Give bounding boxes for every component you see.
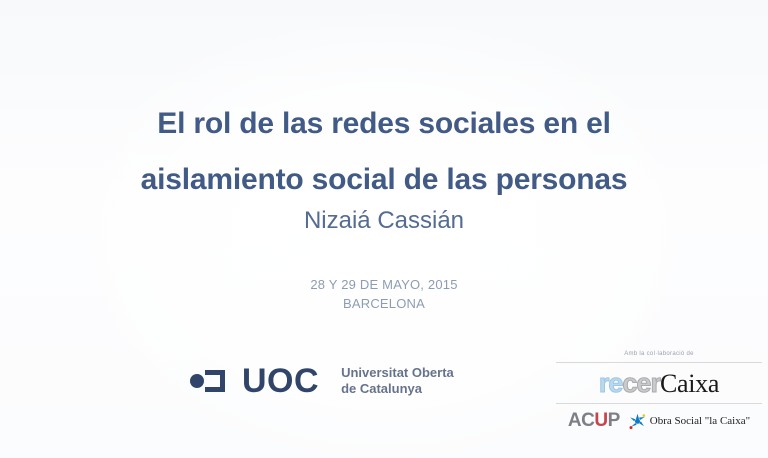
uoc-square-dot-icon: [188, 366, 228, 396]
recercaixa-cer: cer: [622, 368, 660, 398]
obra-social-logo: Obra Social "la Caixa": [629, 413, 750, 430]
acup-post: P: [608, 410, 620, 431]
sponsor-bottom-row: ACUP Obra Social: [556, 404, 762, 431]
recercaixa-logo: recerCaixa: [556, 363, 762, 403]
acup-accent: U: [594, 410, 607, 431]
lacaixa-star-icon: [629, 413, 646, 430]
recercaixa-caixa-text: Caixa: [660, 370, 719, 398]
recercaixa-re: re: [599, 368, 623, 398]
uoc-logo: UOC Universitat Oberta de Catalunya: [188, 364, 454, 398]
recercaixa-recer-text: recer: [599, 369, 660, 397]
title-line-1: El rol de las redes sociales en el: [0, 96, 768, 152]
slide-title: El rol de las redes sociales en el aisla…: [0, 96, 768, 208]
slide-content: El rol de las redes sociales en el aisla…: [0, 0, 768, 458]
event-dates: 28 Y 29 DE MAYO, 2015: [0, 275, 768, 294]
author-name: Nizaiá Cassián: [0, 204, 768, 238]
obra-social-text: Obra Social "la Caixa": [650, 415, 750, 428]
presentation-slide: El rol de las redes sociales en el aisla…: [0, 0, 768, 458]
acup-pre: AC: [568, 410, 594, 431]
acup-logo: ACUP: [568, 411, 620, 431]
event-details: 28 Y 29 DE MAYO, 2015 BARCELONA: [0, 275, 768, 313]
sponsor-panel: Amb la col·laboració de recerCaixa ACUP: [556, 350, 762, 431]
event-location: BARCELONA: [0, 294, 768, 313]
uoc-name-line-2: de Catalunya: [341, 381, 454, 397]
title-line-2: aislamiento social de las personas: [0, 152, 768, 208]
uoc-wordmark: UOC: [242, 364, 319, 398]
uoc-name-line-1: Universitat Oberta: [341, 365, 454, 381]
uoc-full-name: Universitat Oberta de Catalunya: [341, 365, 454, 397]
collaboration-label: Amb la col·laboració de: [556, 350, 762, 359]
